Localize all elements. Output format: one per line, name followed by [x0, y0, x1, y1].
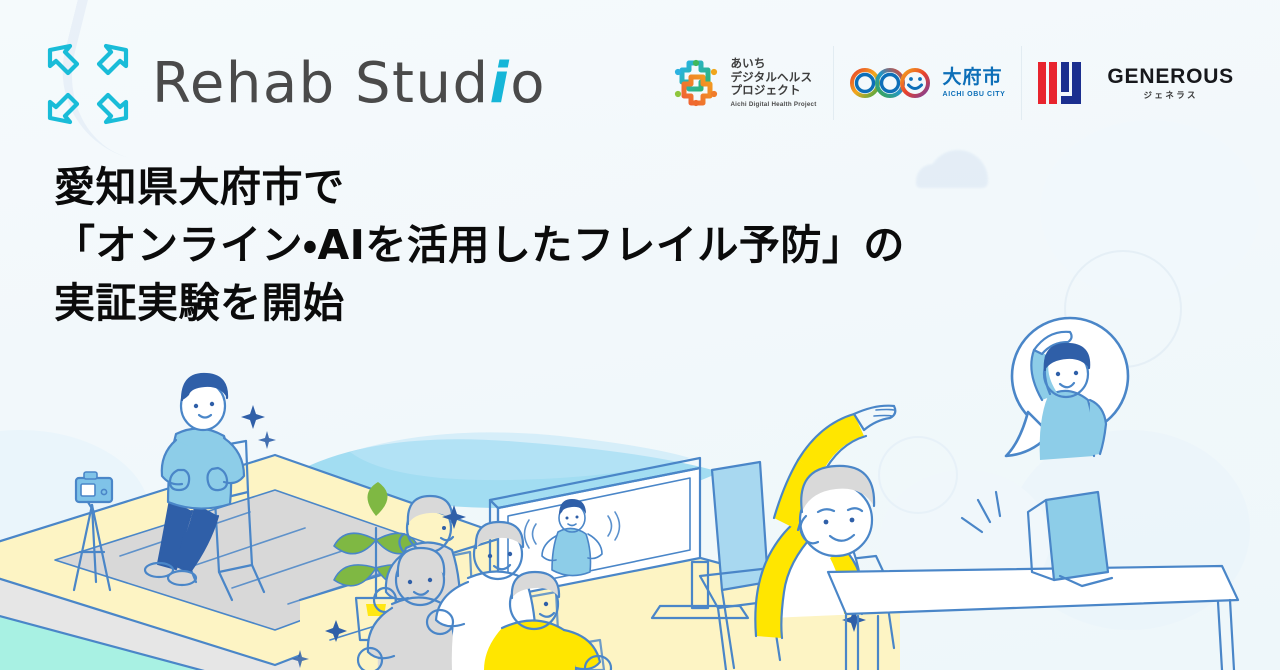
emphasis-marks	[962, 492, 1000, 532]
headline-line-1: 愛知県大府市で	[54, 158, 905, 216]
promo-banner: Rehab Studio	[0, 0, 1280, 670]
headline-line-3: 実証実験を開始	[54, 274, 905, 332]
instructor-bubble-badge	[1006, 318, 1128, 460]
page-title: 愛知県大府市で 「オンライン・AIを活用したフレイル予防」の 実証実験を開始	[54, 158, 905, 333]
hero-illustration: .ln { fill:none; stroke:#4a86c8; stroke-…	[0, 0, 1280, 670]
scene-home-stretch	[700, 406, 1238, 670]
headline-line-2: 「オンライン・AIを活用したフレイル予防」の	[54, 216, 905, 274]
